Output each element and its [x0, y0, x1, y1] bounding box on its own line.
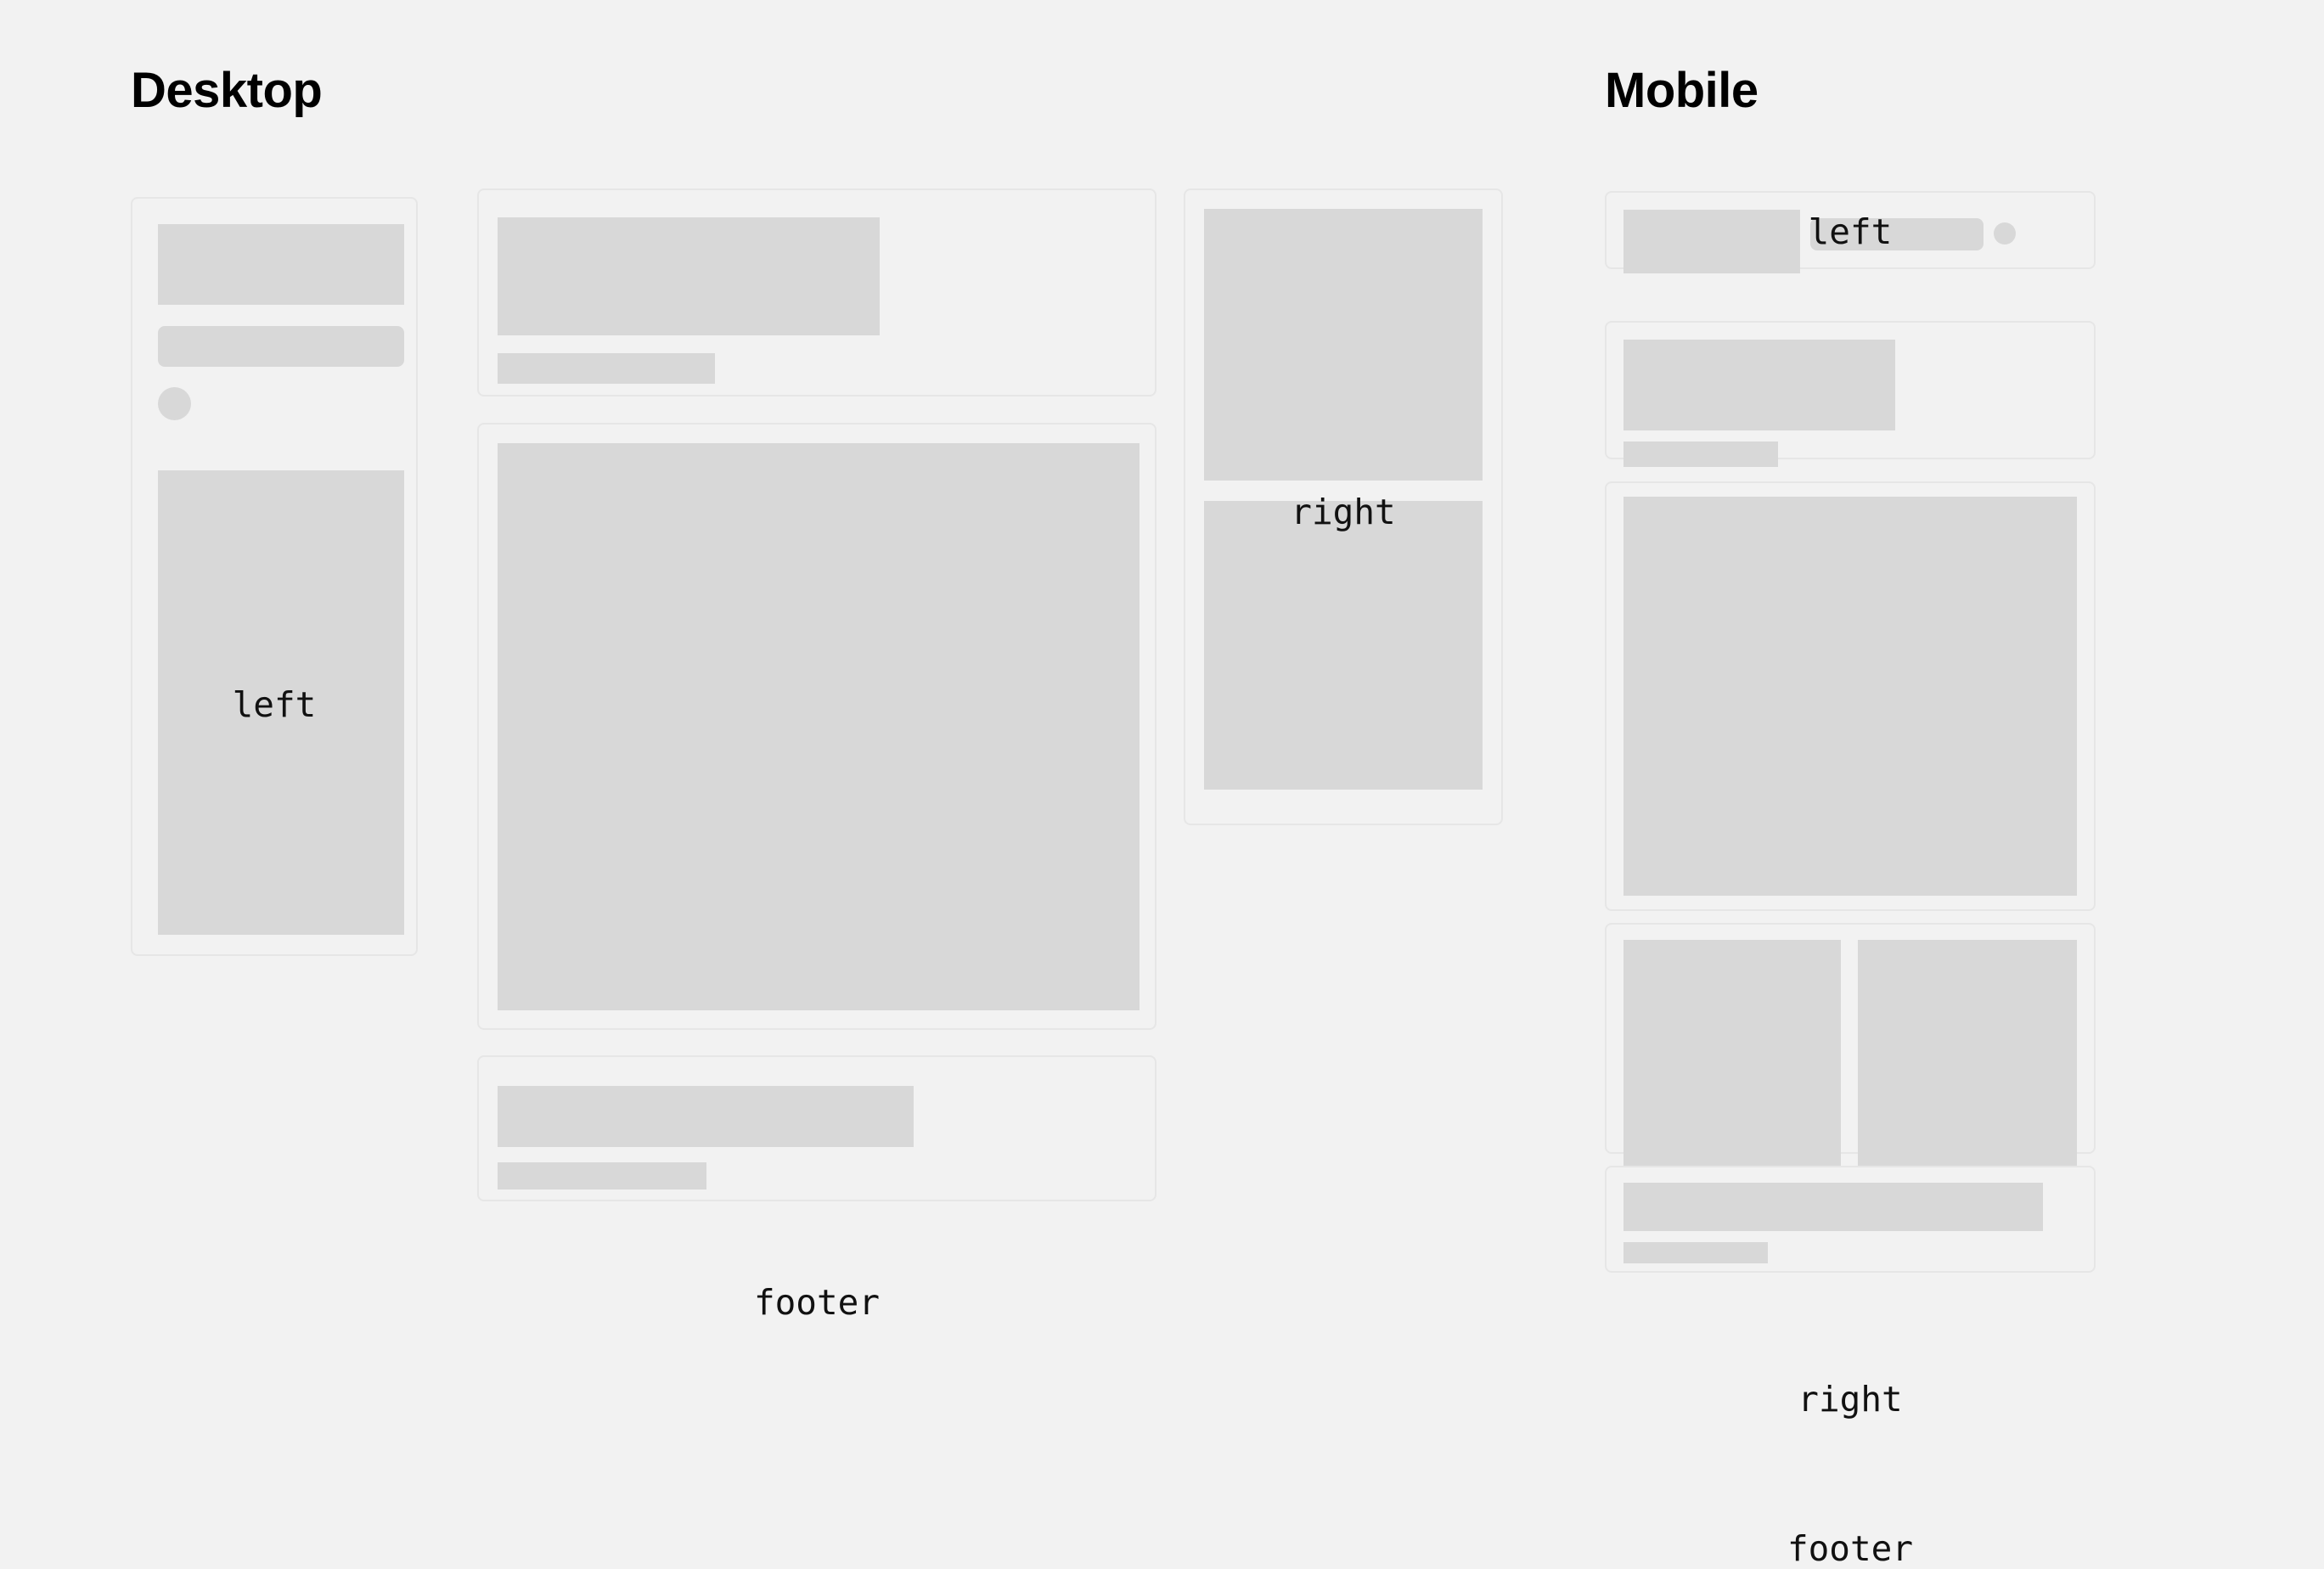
desktop-left-pill-block: [158, 326, 404, 367]
desktop-right-panel[interactable]: right: [1184, 188, 1503, 825]
mobile-before-body-short-block: [1623, 441, 1778, 467]
mobile-left-panel[interactable]: left: [1605, 191, 2096, 269]
mobile-footer-label: footer: [1607, 1528, 2094, 1569]
mobile-before-body-panel[interactable]: beforeBody: [1605, 321, 2096, 459]
desktop-before-body-wide-block: [498, 217, 880, 335]
desktop-before-body-short-block: [498, 353, 715, 384]
desktop-page-body-panel[interactable]: pageBody: [477, 423, 1156, 1030]
mobile-right-label: right: [1607, 1379, 2094, 1420]
mobile-left-pill-block: [1810, 218, 1984, 250]
desktop-before-body-panel[interactable]: beforeBody: [477, 188, 1156, 396]
desktop-left-panel[interactable]: left: [131, 197, 418, 956]
mobile-before-body-wide-block: [1623, 340, 1895, 430]
desktop-left-header-block: [158, 224, 404, 305]
desktop-footer-label: footer: [479, 1282, 1155, 1323]
mobile-footer-wide-block: [1623, 1183, 2043, 1231]
desktop-section-title: Desktop: [131, 66, 322, 115]
mobile-left-avatar-circle: [1994, 222, 2016, 245]
mobile-footer-short-block: [1623, 1242, 1768, 1263]
mobile-section-title: Mobile: [1605, 66, 1758, 115]
desktop-footer-short-block: [498, 1162, 706, 1189]
mobile-right-panel[interactable]: right: [1605, 923, 2096, 1154]
mobile-left-header-block: [1623, 210, 1800, 273]
desktop-left-tall-block: [158, 470, 404, 935]
mobile-right-left-block: [1623, 940, 1841, 1182]
mobile-page-body-panel[interactable]: pageBody: [1605, 481, 2096, 911]
mobile-footer-panel[interactable]: footer: [1605, 1166, 2096, 1273]
desktop-footer-panel[interactable]: footer: [477, 1055, 1156, 1201]
desktop-page-body-large-block: [498, 443, 1139, 1010]
desktop-right-upper-block: [1204, 209, 1483, 481]
desktop-footer-wide-block: [498, 1086, 914, 1147]
desktop-left-avatar-circle: [158, 387, 191, 420]
mobile-right-right-block: [1858, 940, 2077, 1182]
desktop-right-lower-block: [1204, 501, 1483, 790]
mobile-page-body-large-block: [1623, 497, 2077, 896]
